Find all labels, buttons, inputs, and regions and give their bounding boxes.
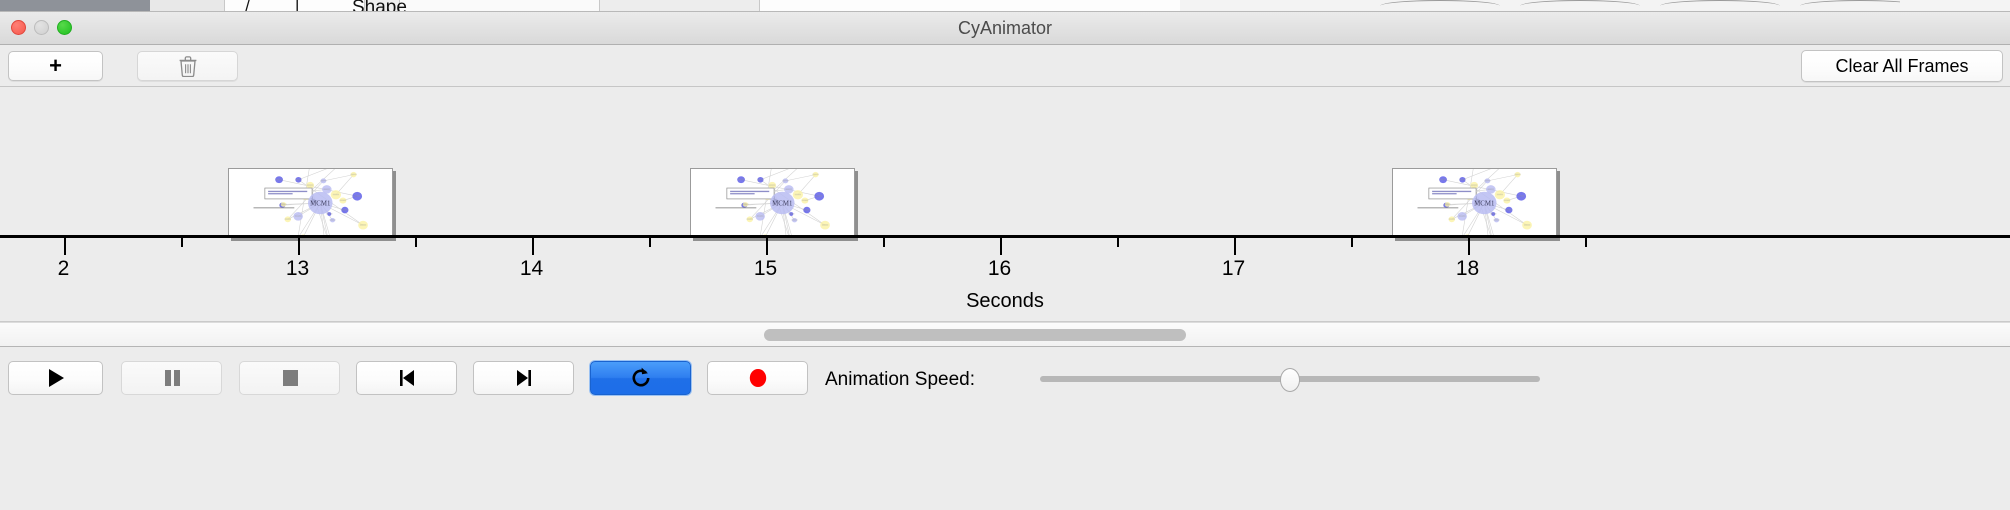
playback-control-bar: Animation Speed: bbox=[0, 347, 2010, 510]
axis-major-tick bbox=[298, 238, 300, 255]
animation-speed-label: Animation Speed: bbox=[825, 369, 975, 391]
horizontal-scrollbar-thumb[interactable] bbox=[764, 329, 1186, 341]
axis-minor-tick bbox=[649, 238, 651, 247]
play-button[interactable] bbox=[8, 361, 103, 395]
horizontal-scrollbar-track[interactable] bbox=[0, 322, 2010, 347]
trash-icon bbox=[179, 56, 197, 77]
loop-button[interactable] bbox=[590, 361, 691, 395]
background-segment bbox=[150, 0, 225, 12]
animation-speed-slider-knob[interactable] bbox=[1280, 368, 1300, 392]
axis-tick-label: 18 bbox=[1456, 257, 1479, 281]
axis-tick-label: 13 bbox=[286, 257, 309, 281]
axis-title-seconds: Seconds bbox=[0, 290, 2010, 313]
previous-frame-button[interactable] bbox=[356, 361, 457, 395]
pause-icon bbox=[162, 367, 182, 389]
frame-thumbnail-1[interactable]: MCM1 bbox=[228, 168, 393, 238]
background-window-strip: / | Shape bbox=[0, 0, 2010, 12]
skip-back-icon bbox=[396, 367, 418, 389]
clear-all-frames-button[interactable]: Clear All Frames bbox=[1801, 50, 2003, 82]
clear-all-frames-label: Clear All Frames bbox=[1835, 56, 1968, 77]
loop-icon bbox=[629, 366, 653, 390]
add-frame-button[interactable]: + bbox=[8, 51, 103, 81]
plus-icon: + bbox=[49, 53, 62, 79]
axis-major-tick bbox=[1000, 238, 1002, 255]
frame-thumbnail-2[interactable]: MCM1 bbox=[690, 168, 855, 238]
svg-text:MCM1: MCM1 bbox=[310, 201, 331, 208]
background-arc bbox=[1520, 0, 1640, 12]
stop-button[interactable] bbox=[239, 361, 340, 395]
axis-line bbox=[0, 235, 2010, 238]
axis-tick-label: 2 bbox=[58, 257, 70, 281]
svg-text:MCM1: MCM1 bbox=[772, 201, 793, 208]
axis-major-tick bbox=[766, 238, 768, 255]
axis-tick-label: 14 bbox=[520, 257, 543, 281]
axis-tick-label: 15 bbox=[754, 257, 777, 281]
svg-text:MCM1: MCM1 bbox=[1474, 201, 1495, 208]
axis-major-tick bbox=[1234, 238, 1236, 255]
axis-minor-tick bbox=[181, 238, 183, 247]
background-segment bbox=[600, 0, 760, 12]
frames-toolbar: + Clear All Frames bbox=[0, 45, 2010, 87]
record-icon bbox=[747, 367, 769, 389]
axis-minor-tick bbox=[1117, 238, 1119, 247]
axis-tick-label: 17 bbox=[1222, 257, 1245, 281]
window-title: CyAnimator bbox=[0, 12, 2010, 45]
axis-minor-tick bbox=[1351, 238, 1353, 247]
background-glyph: | bbox=[295, 0, 299, 12]
background-dark-panel bbox=[0, 0, 150, 12]
axis-major-tick bbox=[532, 238, 534, 255]
skip-forward-icon bbox=[513, 367, 535, 389]
background-window-label: Shape bbox=[352, 0, 407, 12]
record-button[interactable] bbox=[707, 361, 808, 395]
stop-icon bbox=[280, 367, 300, 389]
pause-button[interactable] bbox=[121, 361, 222, 395]
background-segment bbox=[760, 0, 1180, 12]
axis-minor-tick bbox=[415, 238, 417, 247]
background-segment bbox=[1900, 0, 2010, 12]
axis-major-tick bbox=[64, 238, 66, 255]
axis-minor-tick bbox=[1585, 238, 1587, 247]
delete-frame-button[interactable] bbox=[137, 51, 238, 81]
background-glyph: / bbox=[245, 0, 250, 12]
window-titlebar[interactable]: CyAnimator bbox=[0, 12, 2010, 45]
play-icon bbox=[46, 367, 66, 389]
frame-thumbnail-3[interactable]: MCM1 bbox=[1392, 168, 1557, 238]
axis-major-tick bbox=[1468, 238, 1470, 255]
background-arc bbox=[1380, 0, 1500, 12]
axis-minor-tick bbox=[883, 238, 885, 247]
background-arc bbox=[1660, 0, 1780, 12]
background-segment bbox=[400, 0, 600, 12]
next-frame-button[interactable] bbox=[473, 361, 574, 395]
axis-tick-label: 16 bbox=[988, 257, 1011, 281]
